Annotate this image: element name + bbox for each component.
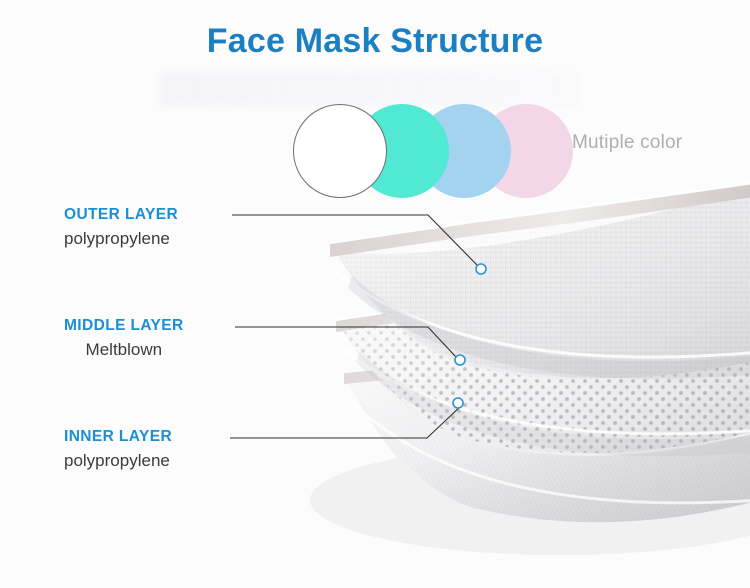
- inner-layer-title: INNER LAYER: [64, 428, 172, 446]
- inner-layer-material: polypropylene: [64, 451, 172, 471]
- middle-layer-title: MIDDLE LAYER: [64, 317, 184, 335]
- label-inner-layer: INNER LAYER polypropylene: [64, 428, 172, 471]
- marker-inner: [453, 398, 463, 408]
- color-swatch-group: [293, 104, 573, 200]
- swatch-white[interactable]: [293, 104, 387, 198]
- outer-layer-title: OUTER LAYER: [64, 206, 178, 224]
- marker-middle: [455, 355, 465, 365]
- multiple-color-label: Mutiple color: [572, 132, 682, 154]
- middle-layer-material: Meltblown: [64, 340, 184, 360]
- marker-outer: [476, 264, 486, 274]
- label-middle-layer: MIDDLE LAYER Meltblown: [64, 317, 184, 360]
- outer-layer-material: polypropylene: [64, 229, 178, 249]
- infographic-canvas: Face Mask Structure: [0, 0, 750, 588]
- label-outer-layer: OUTER LAYER polypropylene: [64, 206, 178, 249]
- face-mask-layers-illustration: [0, 0, 750, 588]
